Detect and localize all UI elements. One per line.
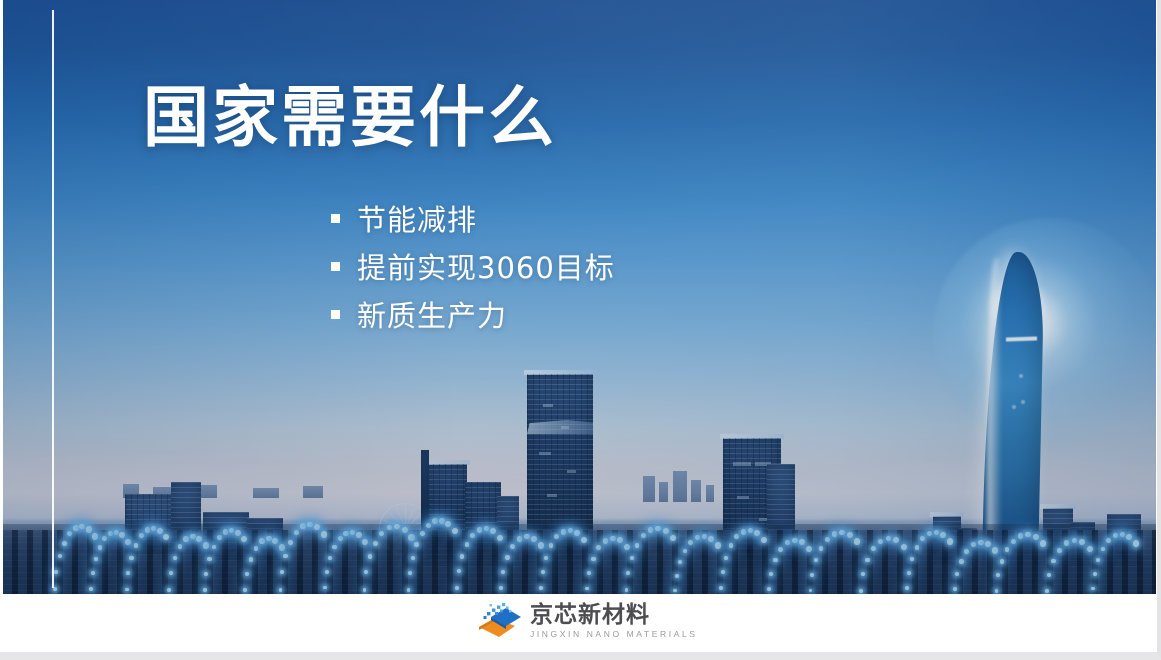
light-node [67,531,72,536]
logo-chinese-name: 京芯新材料 [530,604,650,627]
building-block [1043,508,1073,566]
distant-building [643,476,655,502]
light-node [683,549,688,554]
building-block [933,516,961,564]
light-node [625,588,629,592]
light-node [125,588,129,592]
light-node [955,572,959,576]
light-node [585,587,589,591]
central-skyscraper [527,374,593,570]
light-node [501,570,505,574]
light-node [58,554,62,558]
light-node [98,545,103,550]
light-node [173,556,178,561]
light-node [915,545,920,550]
light-node [92,533,99,540]
light-node [499,586,503,590]
light-node [243,588,247,592]
square-bullet-icon [331,262,340,271]
distant-building [706,485,714,502]
light-node [910,557,914,561]
light-node [323,586,327,590]
bullet-item: 提前实现3060目标 [331,242,615,290]
light-node [806,546,813,553]
light-node [901,544,908,551]
building-block [497,496,519,566]
light-node [314,524,320,530]
light-node [300,523,306,529]
light-node [368,554,372,558]
light-node [819,546,824,551]
light-node [94,557,98,561]
light-node [953,587,957,591]
light-node [280,570,284,574]
light-node [79,524,85,530]
light-node [1045,589,1049,593]
light-node [288,540,293,545]
light-node [54,570,58,574]
light-node [675,574,679,578]
bullet-text: 提前实现3060目标 [357,245,615,287]
light-node [859,589,863,593]
light-node [373,541,378,546]
light-node [587,571,591,575]
light-node [927,531,933,537]
light-node [688,540,693,545]
light-node [457,569,461,573]
slide-bullet-list: 节能减排 提前实现3060目标 新质生产力 [331,194,615,338]
light-node [539,586,543,590]
light-node [129,556,133,560]
light-node [350,530,356,536]
light-node [673,589,677,593]
distant-building [659,482,668,502]
building-block [767,464,795,568]
distant-building [199,485,217,498]
square-bullet-icon [331,310,340,319]
light-node [328,556,332,560]
light-node [799,539,805,545]
building-tower [465,482,501,566]
accent-vertical-rule [52,10,54,588]
presentation-slide: 国家需要什么 节能减排 提前实现3060目标 新质生产力 [0,0,1161,660]
building-block [247,518,283,560]
building-block [125,494,177,554]
light-node [648,527,654,533]
light-node [617,537,623,543]
light-node [1091,587,1095,591]
light-node [114,530,120,536]
light-node [1101,547,1106,552]
light-node [603,538,608,543]
building-tower [427,464,467,566]
light-node [610,536,616,542]
building-block [1107,514,1141,566]
light-node [89,587,93,591]
light-node [630,556,634,560]
landmark-curved-tower [981,252,1044,594]
light-node [809,589,813,593]
bullet-text: 节能减排 [357,197,477,239]
light-node [363,588,367,592]
light-node [245,572,249,576]
light-node [167,588,171,592]
light-node [847,532,853,538]
light-node [307,522,313,528]
light-node [455,586,459,590]
light-node [635,543,640,548]
light-node [769,572,773,576]
light-node [810,573,814,577]
building-tower [421,450,429,566]
slide-background-image: 国家需要什么 节能减排 提前实现3060目标 新质生产力 [3,0,1156,594]
light-node [541,570,545,574]
light-node [102,536,107,541]
building-block [203,512,249,560]
sun-glow [933,218,1156,448]
light-node [343,531,349,537]
light-node [719,586,723,590]
light-node [907,571,911,575]
light-node [279,588,283,592]
distant-building [691,480,701,502]
jingxin-logo-mark-icon [475,601,521,641]
light-node [825,537,830,542]
light-node [203,588,207,592]
light-node [861,572,865,576]
slide-headline: 国家需要什么 [143,85,557,151]
light-node [626,571,630,575]
light-node [832,531,838,537]
bullet-item: 新质生产力 [331,290,615,338]
light-node [814,558,818,562]
light-node [767,587,771,591]
light-node [332,545,337,550]
light-node [325,570,329,574]
light-node [73,525,79,531]
light-node [1047,573,1051,577]
building-block [959,528,977,564]
bullet-text: 新质生产力 [357,293,507,335]
light-node [408,571,412,575]
tower-window-light [1012,405,1016,409]
tower-window-light [1019,374,1023,378]
light-node [62,541,67,546]
building-block [171,482,201,554]
light-node [407,588,411,592]
distant-building [673,471,687,502]
light-node [169,571,173,575]
light-node [364,570,368,574]
light-node [283,554,287,558]
light-node [839,530,845,536]
company-logo: 京芯新材料 JINGXIN NANO MATERIALS [475,601,698,641]
tower-window-light [1021,400,1025,404]
slide-footer: 京芯新材料 JINGXIN NANO MATERIALS [3,594,1156,652]
light-node [1093,572,1097,576]
light-node [721,570,725,574]
building-block [1071,522,1095,566]
light-node [678,560,682,564]
light-node [655,526,661,532]
light-node [126,571,130,575]
light-node [596,545,601,550]
light-node [204,572,208,576]
light-node [91,571,95,575]
light-node [865,558,870,563]
light-node [624,544,631,551]
light-node [1096,558,1100,562]
logo-english-name: JINGXIN NANO MATERIALS [530,630,698,639]
distant-building [303,486,323,498]
square-bullet-icon [331,214,340,223]
light-node [715,542,722,549]
light-node [905,586,909,590]
logo-wordmark: 京芯新材料 JINGXIN NANO MATERIALS [530,604,698,639]
light-node [108,531,114,537]
distant-building [253,488,279,498]
light-node [86,526,92,532]
bullet-item: 节能减排 [331,194,615,242]
light-node [871,546,876,551]
